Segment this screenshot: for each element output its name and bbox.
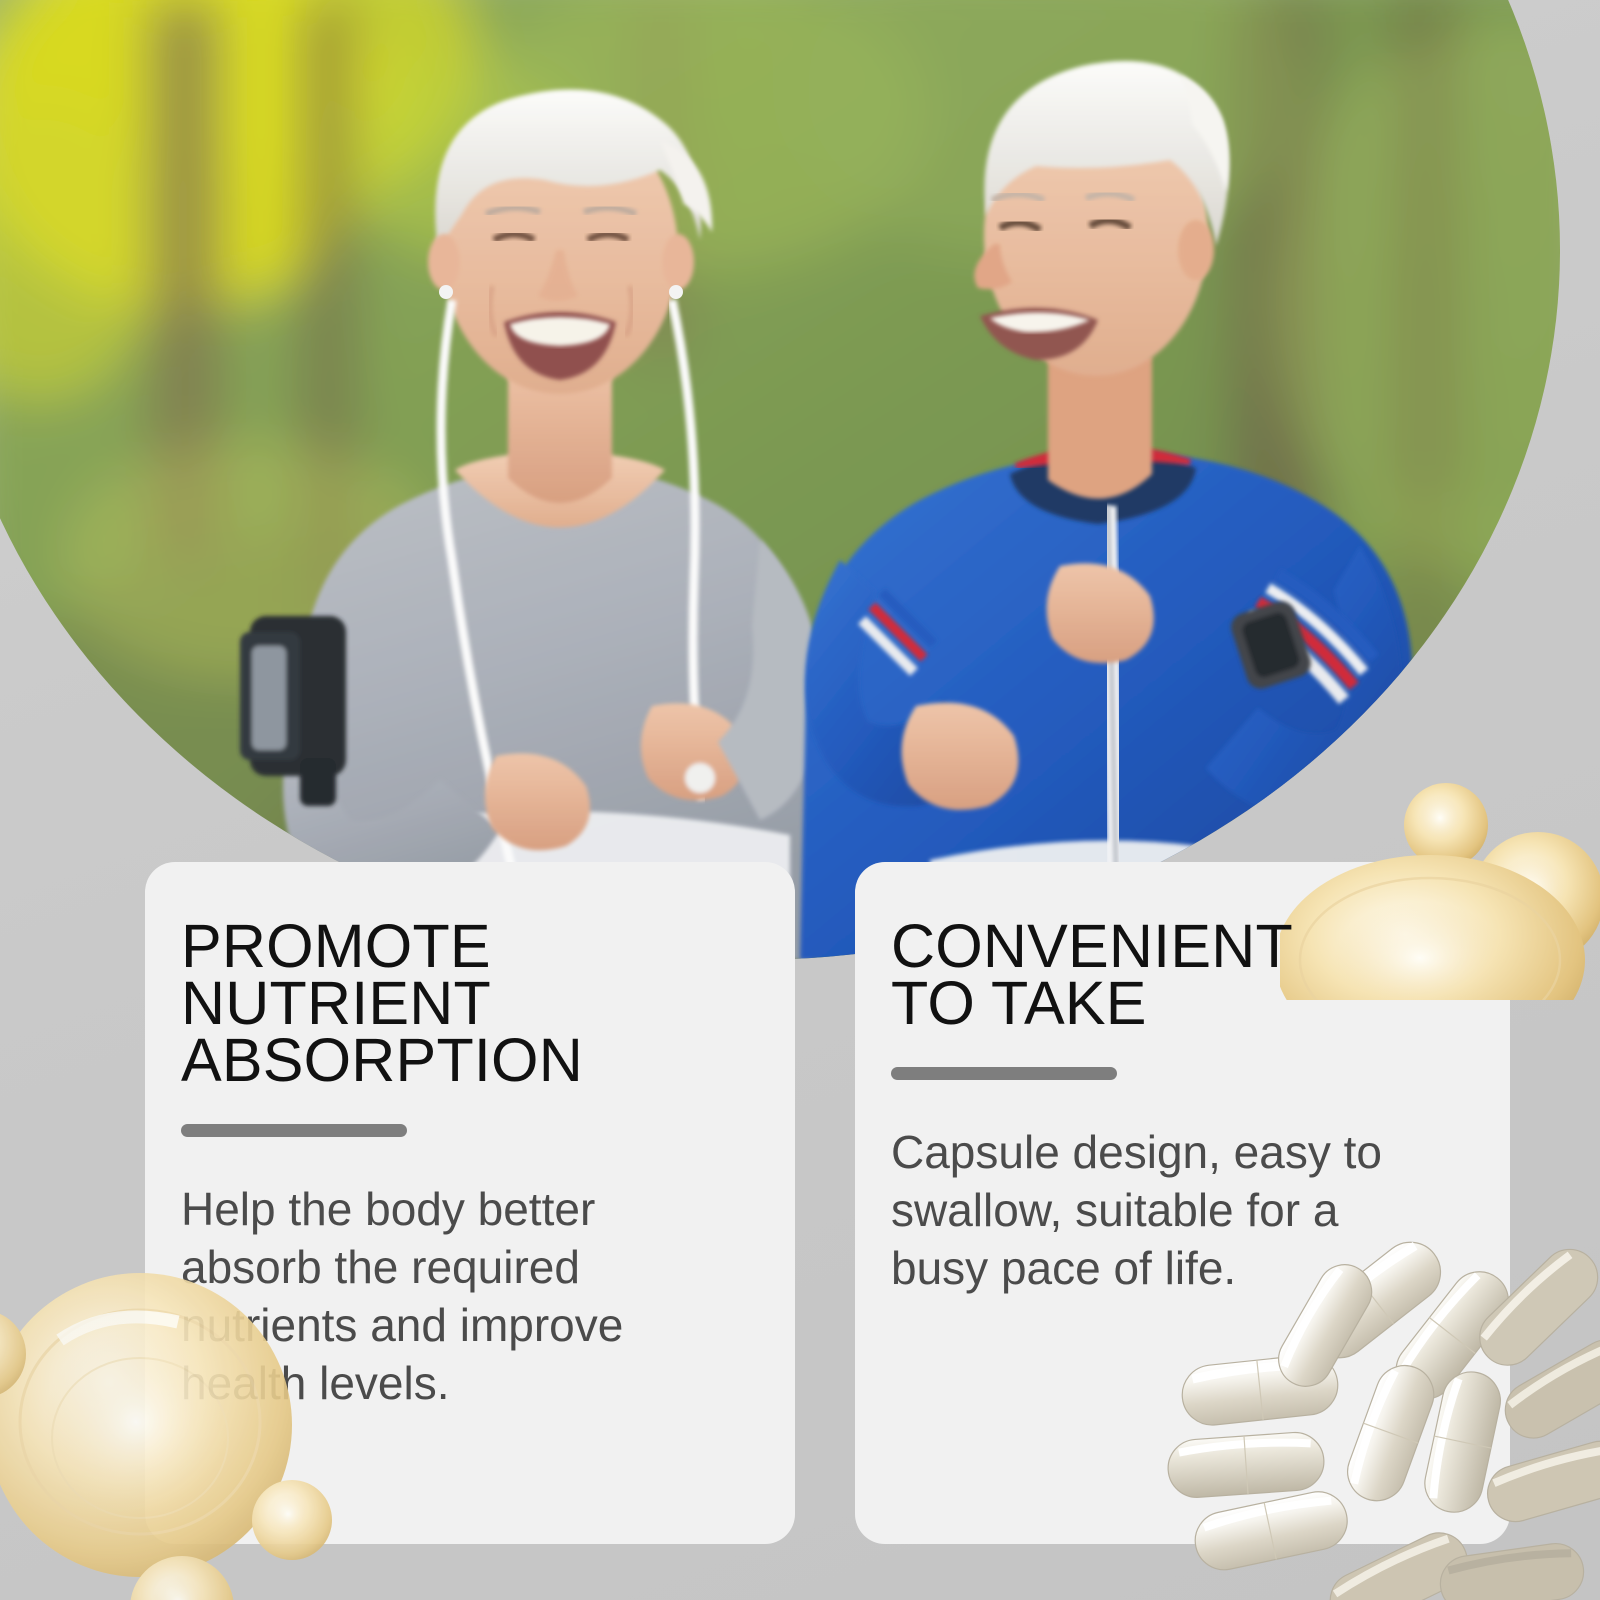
card-body-text: Capsule design, easy to swallow, suitabl… [891, 1123, 1411, 1297]
hero-photo-arch-mask [0, 0, 1560, 960]
card-title: PROMOTE NUTRIENT ABSORPTION [181, 918, 795, 1089]
banner-canvas: PROMOTE NUTRIENT ABSORPTION Help the bod… [0, 0, 1600, 1600]
card-body-text: Help the body better absorb the required… [181, 1180, 681, 1412]
card-title: CONVENIENT TO TAKE [891, 918, 1510, 1032]
hero-photo-region [0, 0, 1600, 960]
feature-card-promote-nutrient-absorption: PROMOTE NUTRIENT ABSORPTION Help the bod… [145, 862, 795, 1544]
card-title-rule [891, 1067, 1117, 1080]
hero-photo-image [0, 0, 1560, 960]
hero-illustration [0, 0, 1560, 960]
feature-card-convenient-to-take: CONVENIENT TO TAKE Capsule design, easy … [855, 862, 1510, 1544]
card-title-rule [181, 1124, 407, 1137]
